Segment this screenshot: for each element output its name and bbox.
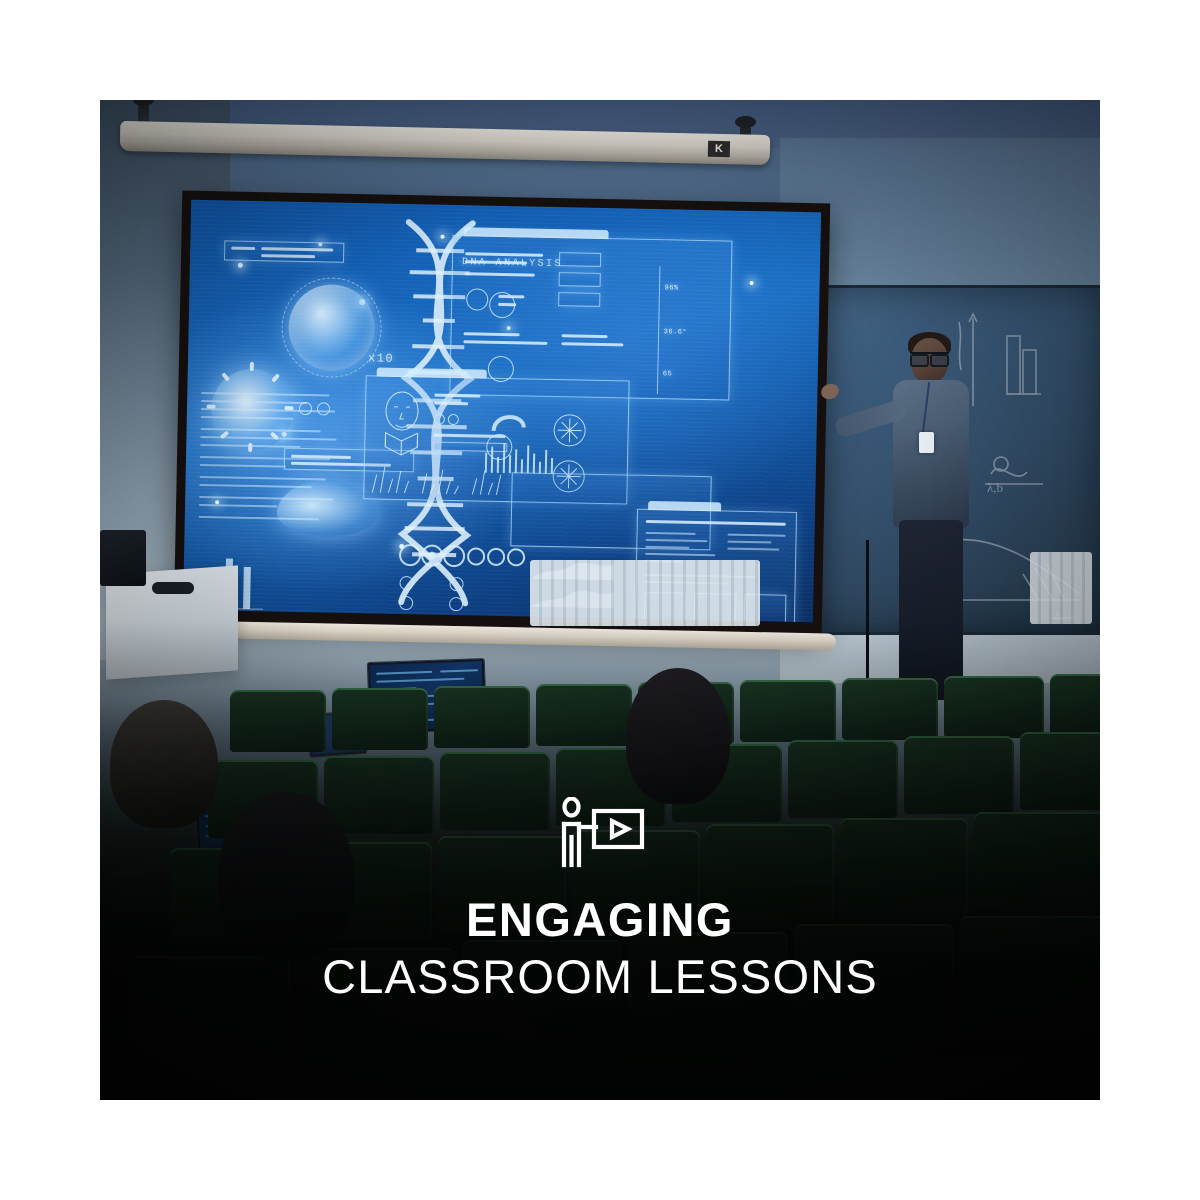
- presenter-glasses: [910, 352, 949, 361]
- face-scan-icon: [375, 388, 428, 457]
- lecture-seat: [572, 830, 700, 926]
- presenter-torso: [893, 380, 969, 528]
- spectrum-graphic: [370, 462, 531, 497]
- lecture-seat: [1020, 732, 1100, 810]
- lecture-seat: [434, 686, 530, 748]
- lecture-seat: [628, 932, 788, 1052]
- lecture-seat: [740, 680, 836, 742]
- lecture-seat: [324, 756, 434, 834]
- hud-panel: [224, 240, 344, 262]
- lecture-seat: [438, 836, 566, 932]
- metric-value: 96%: [664, 284, 678, 292]
- radiator: [530, 560, 760, 626]
- cell-globe-graphic: [288, 284, 376, 372]
- presenter-badge: [919, 432, 934, 453]
- projection-screen: DNA ANALYSIS x10: [183, 200, 821, 623]
- lecture-seat: [230, 690, 326, 752]
- lecture-seat: [974, 812, 1100, 908]
- podium-remote: [152, 582, 194, 594]
- student-head: [626, 668, 730, 804]
- student-head: [110, 700, 218, 828]
- arc-graphic: [490, 409, 533, 436]
- presenter-legs: [899, 520, 963, 700]
- star-node-icon: [553, 414, 586, 447]
- lecture-seat: [536, 684, 632, 746]
- glow-dot: [750, 281, 754, 285]
- glow-dot: [238, 263, 243, 268]
- lecture-seat: [944, 676, 1044, 738]
- lecture-seat: [788, 740, 898, 818]
- presenter: [835, 320, 1015, 720]
- podium-monitor: [100, 530, 146, 586]
- lecture-seat: [842, 678, 938, 740]
- page-canvas: λ,b 5. K: [0, 0, 1200, 1200]
- metric-scale: [654, 266, 663, 394]
- kodak-logo-mark: K: [715, 143, 723, 154]
- lecture-seat: [1050, 674, 1100, 736]
- student-head: [218, 792, 354, 960]
- lecture-seat: [706, 824, 834, 920]
- gauge-ring: [399, 596, 413, 610]
- radiator: [1030, 552, 1092, 624]
- metric-value: 36.6°: [664, 328, 688, 336]
- kodak-logo: K: [708, 141, 730, 157]
- gauge-ring: [449, 597, 463, 611]
- presenter-leg-split: [866, 540, 869, 700]
- lecture-seat: [130, 956, 290, 1076]
- molecule-chain-graphic: [398, 540, 529, 573]
- lecture-seat: [440, 752, 550, 830]
- lecture-seat: [904, 736, 1014, 814]
- lecture-seat: [332, 688, 428, 750]
- metric-value: 65: [663, 370, 673, 378]
- hero-photo: λ,b 5. K: [100, 100, 1100, 1100]
- lecture-seat: [960, 916, 1100, 1036]
- lecture-seat: [840, 818, 968, 914]
